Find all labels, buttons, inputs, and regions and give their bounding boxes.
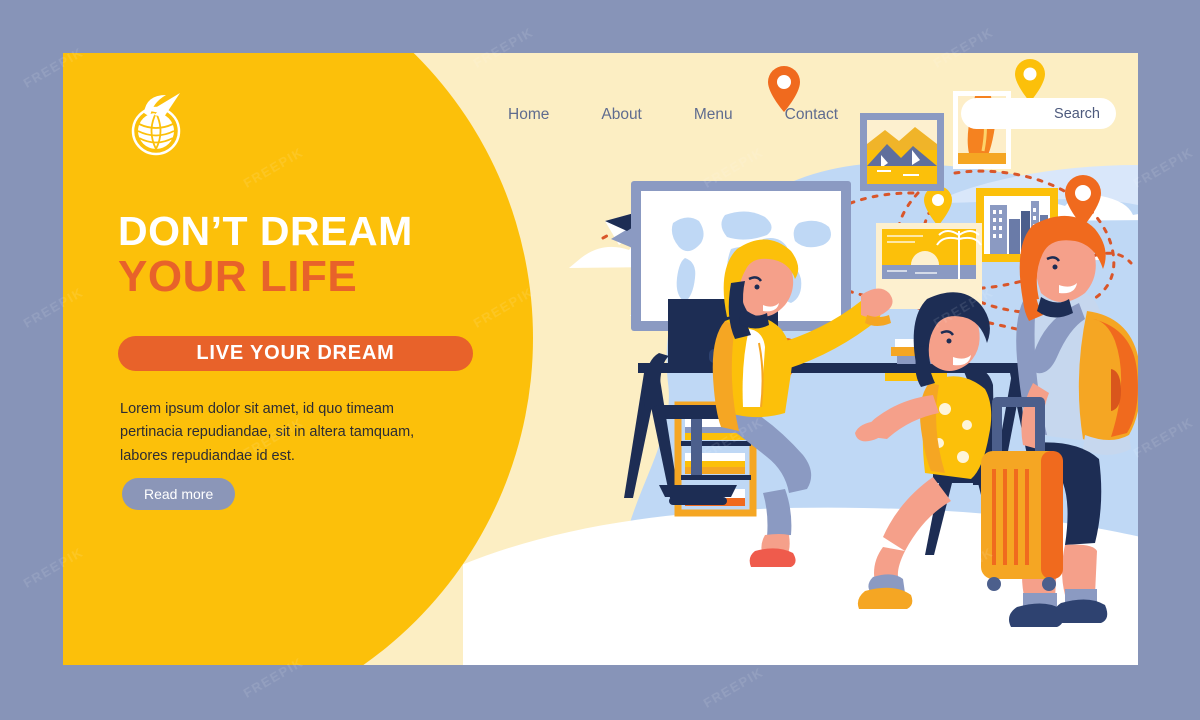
nav-item-menu[interactable]: Menu [694,106,733,124]
main-navigation: Home About Menu Contact Search [508,98,1128,132]
search-input[interactable]: Search [961,98,1116,129]
subheadline-text: LIVE YOUR DREAM [196,342,394,365]
watermark-text: FREEPIK [701,664,766,710]
nav-item-about[interactable]: About [601,106,642,124]
nav-item-contact[interactable]: Contact [785,106,838,124]
headline-line-1: DON’T DREAM [118,209,548,253]
watermark-text: FREEPIK [1131,414,1196,460]
nav-item-home[interactable]: Home [508,106,549,124]
headline-line-2: YOUR LIFE [118,253,548,301]
read-more-button[interactable]: Read more [122,478,235,510]
landing-page-card: Home About Menu Contact Search DON’T DRE… [63,53,1138,665]
watermark-text: FREEPIK [1131,144,1196,190]
search-label: Search [1054,106,1100,122]
globe-paper-plane-icon [133,93,180,154]
brand-logo[interactable] [118,83,198,163]
page-title: DON’T DREAM YOUR LIFE [118,209,548,301]
hero-paragraph: Lorem ipsum dolor sit amet, id quo timea… [120,398,455,468]
hero-illustration [463,53,1138,665]
subheadline-badge: LIVE YOUR DREAM [118,336,473,371]
